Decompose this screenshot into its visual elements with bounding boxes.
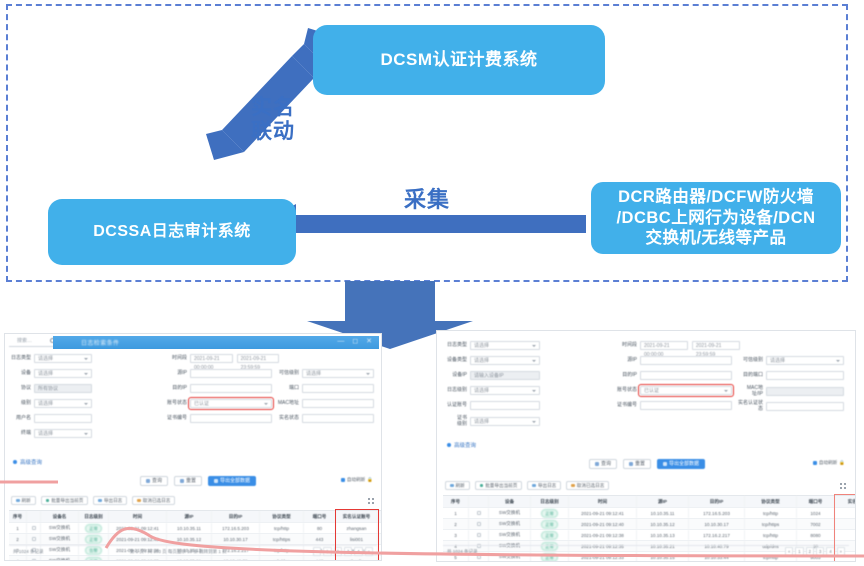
field-label: 日志级别	[443, 388, 467, 394]
field-input[interactable]: 请选择	[34, 399, 92, 408]
field-input[interactable]	[190, 414, 272, 423]
right-action-buttons: 查询重置导出全部数据	[589, 459, 705, 469]
checkbox-icon	[813, 461, 817, 465]
field-input[interactable]: 请选择	[470, 341, 540, 350]
field-label: 级别	[9, 401, 31, 407]
field-label: 证书编号	[613, 403, 637, 409]
field-label: 终端	[9, 431, 31, 437]
auto-refresh-toggle-right[interactable]: 自动刷新 🔒	[813, 460, 845, 466]
chevron-down-icon	[532, 390, 536, 392]
window-titlebar: 日志检索条件 — ◻ ✕	[53, 336, 379, 349]
node-devices-line1: DCR路由器/DCFW防火墙	[616, 187, 815, 208]
field-input[interactable]	[766, 371, 844, 380]
form-row: 协议所有协议	[9, 384, 92, 393]
field-label: 源IP	[165, 371, 187, 377]
field-label: 账号状态	[165, 401, 187, 407]
field-label: 设备	[9, 371, 31, 377]
form-row: MAC地址/IP	[737, 386, 844, 397]
form-row: 用户名	[9, 414, 92, 423]
advanced-query-label: 高级查询	[20, 458, 42, 466]
field-input[interactable]	[190, 369, 272, 378]
button-icon	[663, 462, 667, 466]
field-input[interactable]	[190, 384, 272, 393]
field-input[interactable]	[640, 371, 732, 380]
slide-root: DCSM认证计费系统 DCSSA日志审计系统 DCR路由器/DCFW防火墙 /D…	[0, 0, 864, 566]
form-row: 设备IP请输入设备IP	[443, 371, 540, 380]
action-button[interactable]: 导出全部数据	[657, 459, 705, 469]
form-row: 实名认证状态	[737, 401, 844, 412]
form-row: 证书编号	[613, 401, 732, 410]
form-row: 源IP	[613, 356, 732, 365]
chevron-down-icon	[836, 360, 840, 362]
action-button[interactable]: 重置	[623, 459, 651, 469]
advanced-query-header[interactable]: 高级查询	[13, 458, 42, 466]
form-row: 源IP	[165, 369, 272, 378]
plus-icon	[13, 460, 17, 464]
field-input[interactable]: 已认证	[640, 386, 732, 395]
field-input[interactable]: 请选择	[470, 356, 540, 365]
form-row: 时间段2021-09-21 00:00:002021-09-21 23:59:5…	[613, 341, 740, 350]
field-input[interactable]: 请选择	[34, 369, 92, 378]
date-from-input[interactable]: 2021-09-21 00:00:00	[190, 354, 233, 363]
field-label: 时间段	[613, 343, 637, 349]
form-row: 认证账号	[443, 401, 540, 410]
field-input[interactable]: 请选择	[34, 354, 92, 363]
node-network-devices: DCR路由器/DCFW防火墙 /DCBC上网行为设备/DCN 交换机/无线等产品	[591, 182, 841, 254]
chevron-down-icon	[532, 421, 536, 423]
node-dcssa: DCSSA日志审计系统	[48, 199, 296, 265]
window-title: 日志检索条件	[81, 338, 119, 347]
form-row: 日志级别请选择	[443, 386, 540, 395]
search-input-text: 搜索…	[17, 338, 32, 344]
form-row: MAC地址	[277, 399, 374, 408]
form-row: 级别请选择	[9, 399, 92, 408]
field-label: 证书编号	[165, 416, 187, 422]
advanced-query-label-right: 高级查询	[454, 441, 476, 449]
field-input[interactable]: 请选择	[302, 369, 374, 378]
node-devices-line3: 交换机/无线等产品	[616, 228, 815, 249]
field-input[interactable]	[640, 401, 732, 410]
field-label: 日志类型	[9, 356, 31, 362]
node-dcsm-label: DCSM认证计费系统	[380, 49, 537, 70]
field-label: 设备类型	[443, 358, 467, 364]
label-realname-line1: 实名	[251, 96, 295, 120]
chevron-down-icon	[532, 345, 536, 347]
field-label: 用户名	[9, 416, 31, 422]
field-input[interactable]: 请选择	[470, 417, 540, 426]
form-row: 设备请选择	[9, 369, 92, 378]
field-input[interactable]: 所有协议	[34, 384, 92, 393]
chevron-down-icon	[84, 358, 88, 360]
form-row: 目的IP	[613, 371, 732, 380]
date-to-input[interactable]: 2021-09-21 23:59:59	[237, 354, 280, 363]
field-label: 目的端口	[737, 373, 763, 379]
field-label: 实名状态	[277, 416, 299, 422]
node-devices-line2: /DCBC上网行为设备/DCN	[616, 208, 815, 229]
date-from-input[interactable]: 2021-09-21 00:00:00	[640, 341, 688, 350]
form-row: 目的IP	[165, 384, 272, 393]
field-input[interactable]	[470, 401, 540, 410]
node-dcssa-label: DCSSA日志审计系统	[93, 222, 251, 242]
field-input[interactable]	[302, 399, 374, 408]
field-input[interactable]	[766, 387, 844, 396]
window-controls[interactable]: — ◻ ✕	[337, 337, 375, 345]
date-to-input[interactable]: 2021-09-21 23:59:59	[692, 341, 740, 350]
search-input[interactable]: 搜索…	[9, 336, 57, 347]
action-button-label: 查询	[601, 459, 611, 469]
field-input[interactable]: 请选择	[766, 356, 844, 365]
field-input[interactable]: 已认证	[190, 399, 272, 408]
pink-accent-swoosh	[0, 476, 864, 566]
field-input[interactable]: 请选择	[470, 386, 540, 395]
field-input[interactable]	[302, 384, 374, 393]
form-row: 终端请选择	[9, 429, 92, 438]
chevron-down-icon	[724, 390, 728, 392]
chevron-down-icon	[532, 360, 536, 362]
field-label: 可信级别	[277, 371, 299, 377]
form-row: 可信级别请选择	[277, 369, 374, 378]
lock-icon: 🔒	[839, 460, 845, 466]
chevron-down-icon	[84, 403, 88, 405]
chevron-down-icon	[84, 373, 88, 375]
plus-icon	[447, 443, 451, 447]
field-input[interactable]: 请选择	[34, 429, 92, 438]
label-realname-linkage: 实名 联动	[251, 96, 295, 144]
field-label: 实名认证状态	[737, 401, 763, 412]
field-label: 目的IP	[613, 373, 637, 379]
action-button-label: 重置	[635, 459, 645, 469]
button-icon	[595, 462, 599, 466]
form-row: 账号状态已认证	[165, 399, 272, 408]
architecture-diagram-panel: DCSM认证计费系统 DCSSA日志审计系统 DCR路由器/DCFW防火墙 /D…	[6, 4, 848, 282]
form-row: 可信级别请选择	[737, 356, 844, 365]
field-label: MAC地址	[277, 401, 299, 407]
field-label: 目的IP	[165, 386, 187, 392]
field-input[interactable]	[640, 356, 732, 365]
form-row: 证书编号	[165, 414, 272, 423]
node-dcsm: DCSM认证计费系统	[313, 25, 605, 95]
field-label: 时间段	[165, 356, 187, 362]
field-label: 协议	[9, 386, 31, 392]
field-input[interactable]	[766, 402, 844, 411]
field-input[interactable]	[34, 414, 92, 423]
button-icon	[629, 462, 633, 466]
auto-refresh-label-right: 自动刷新	[819, 460, 837, 466]
field-label: 源IP	[613, 358, 637, 364]
field-label: 日志类型	[443, 343, 467, 349]
form-row: 账号状态已认证	[613, 386, 732, 395]
chevron-down-icon	[366, 373, 370, 375]
label-collect: 采集	[404, 187, 450, 212]
field-label: 认证账号	[443, 403, 467, 409]
form-row: 实名状态	[277, 414, 374, 423]
label-realname-line2: 联动	[251, 120, 295, 144]
form-row: 时间段2021-09-21 00:00:002021-09-21 23:59:5…	[165, 354, 279, 363]
field-label: 证书 级别	[443, 416, 467, 427]
field-input[interactable]	[302, 414, 374, 423]
chevron-down-icon	[264, 403, 268, 405]
field-label: 端口	[277, 386, 299, 392]
field-label: MAC地址/IP	[737, 386, 763, 397]
form-row: 日志类型请选择	[9, 354, 92, 363]
chevron-down-icon	[84, 433, 88, 435]
form-row: 设备类型请选择	[443, 356, 540, 365]
field-label: 可信级别	[737, 358, 763, 364]
advanced-query-header-right[interactable]: 高级查询	[447, 441, 476, 449]
field-label: 设备IP	[443, 373, 467, 379]
form-row: 端口	[277, 384, 374, 393]
form-row: 日志类型请选择	[443, 341, 540, 350]
action-button[interactable]: 查询	[589, 459, 617, 469]
form-row: 证书 级别请选择	[443, 416, 540, 427]
action-button-label: 导出全部数据	[669, 459, 699, 469]
field-label: 账号状态	[613, 388, 637, 394]
field-input[interactable]: 请输入设备IP	[470, 371, 540, 380]
form-row: 目的端口	[737, 371, 844, 380]
